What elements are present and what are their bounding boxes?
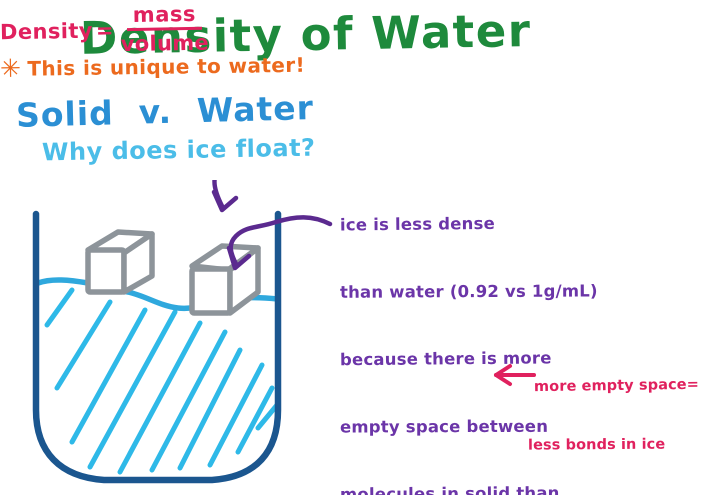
formula-denominator: volume — [121, 30, 210, 56]
formula-fraction: mass volume — [120, 3, 209, 56]
callout-arrow-to-ice-cube — [214, 180, 328, 210]
question-why-does-ice-float: Why does ice float? — [42, 134, 316, 167]
explanation-line: ice is less dense — [340, 212, 626, 237]
formula-equals: = — [96, 18, 114, 42]
subtitle-solid-v-water: Solid v. Water — [16, 88, 315, 135]
explanation-line: than water (0.92 vs 1g/mL) — [340, 280, 626, 304]
beaker-diagram — [0, 180, 340, 495]
annotation-line: more empty space= — [534, 376, 699, 398]
ice-cube-left — [88, 232, 152, 292]
formula-numerator: mass — [127, 3, 203, 31]
annotation-line: less bonds in ice — [528, 435, 699, 456]
ice-cube-right — [192, 246, 258, 313]
whiteboard-canvas: Density of Water Solid v. Water Why does… — [0, 0, 720, 495]
asterisk-icon: ✳ — [0, 56, 22, 81]
unique-to-water-text: This is unique to water! — [27, 52, 305, 80]
water-hatch-lines — [47, 290, 277, 472]
formula-label: Density — [0, 18, 93, 44]
annotation-note: more empty space= less bonds in ice = le… — [534, 338, 699, 495]
